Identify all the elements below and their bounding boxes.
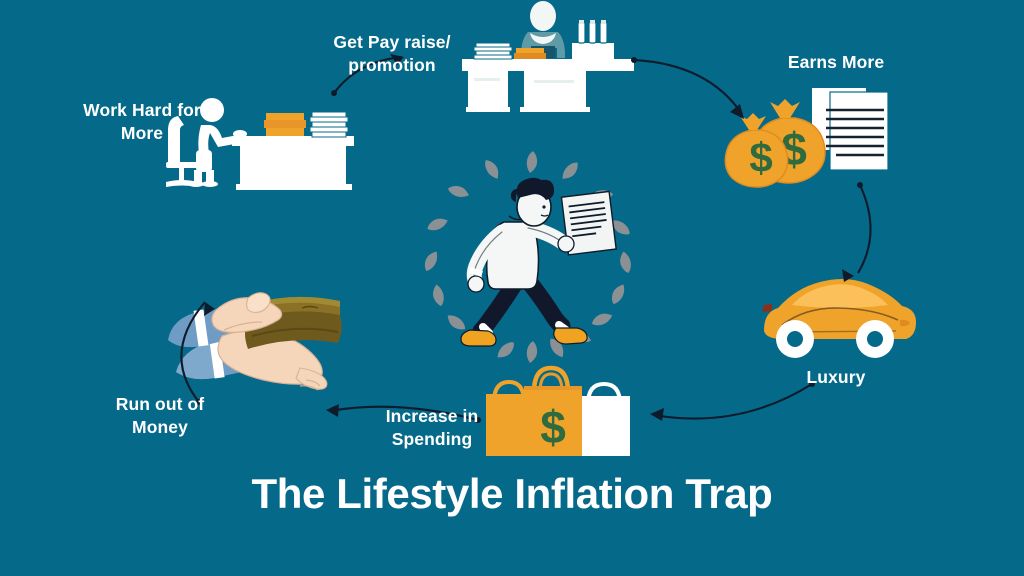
infographic-canvas: $ $ <box>0 0 1024 576</box>
step-label-increase-in-spending: Increase in Spending <box>368 405 496 451</box>
running-person-with-document-icon <box>461 178 616 346</box>
money-bags-icon: $ $ <box>725 88 888 187</box>
arrow-raise-to-earns <box>631 57 744 119</box>
svg-text:$: $ <box>749 134 772 181</box>
boss-desk-icon <box>462 1 634 112</box>
arrow-earns-to-luxury <box>842 182 871 282</box>
svg-text:$: $ <box>540 401 566 453</box>
page-title: The Lifestyle Inflation Trap <box>0 470 1024 518</box>
step-label-pay-raise: Get Pay raise/ promotion <box>312 31 472 77</box>
car-icon <box>763 279 916 358</box>
step-label-work-hard: Work Hard for More <box>52 99 232 145</box>
step-label-run-out-of-money: Run out of Money <box>94 393 226 439</box>
shopping-bags-icon: $ <box>486 368 630 456</box>
step-label-earns-more: Earns More <box>758 51 914 74</box>
step-label-luxury: Luxury <box>776 366 896 389</box>
empty-wallet-icon <box>168 293 342 390</box>
